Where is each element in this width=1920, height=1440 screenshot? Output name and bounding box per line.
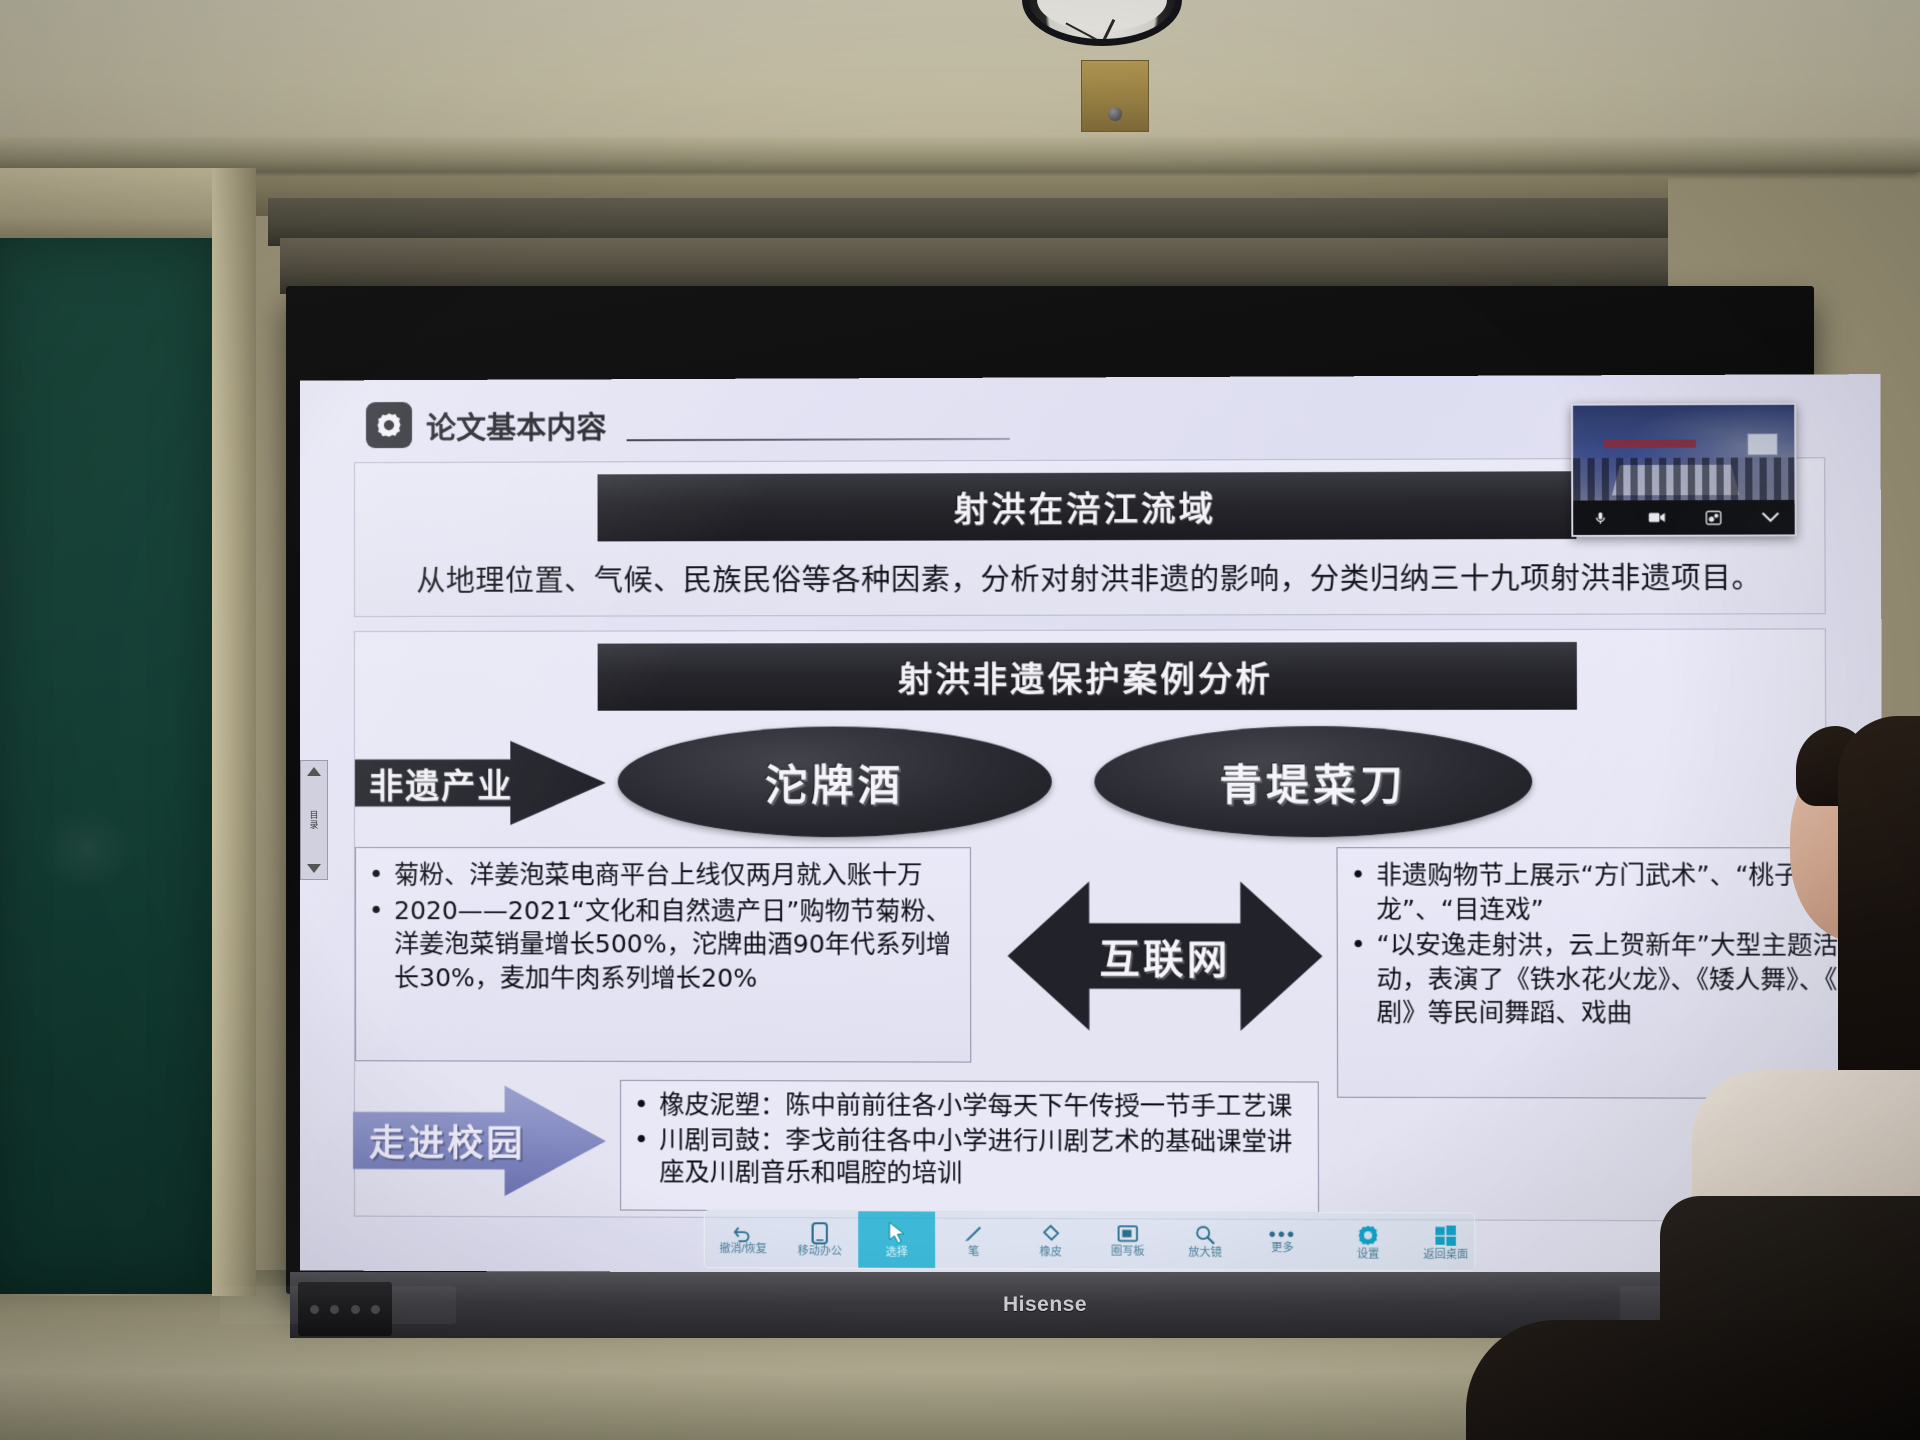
school-detail-box: • 橡皮泥塑：陈中前前往各小学每天下午传授一节手工艺课 • 川剧司鼓：李戈前往各… (620, 1080, 1319, 1213)
industry-arrow: 非遗产业 (355, 741, 606, 825)
left-bullet-1: 菊粉、洋姜泡菜电商平台上线仅两月就入账十万 (394, 858, 958, 892)
case-heading-row: 非遗产业 沱牌酒 青堤菜刀 (369, 722, 1811, 842)
person-shoulder (1466, 1320, 1920, 1440)
list-item: • 菊粉、洋姜泡菜电商平台上线仅两月就入账十万 (368, 858, 958, 892)
magnifier-icon[interactable]: 放大镜 (1166, 1212, 1243, 1269)
header-underline (627, 438, 1010, 441)
chevron-down-icon[interactable] (307, 864, 321, 873)
bullet-point: • (633, 1089, 649, 1122)
section-case-analysis: 射洪非遗保护案例分析 非遗产业 沱牌酒 青堤菜刀 • (354, 628, 1828, 1221)
hardware-button[interactable] (351, 1305, 360, 1314)
whiteboard-icon[interactable]: 圈写板 (1089, 1212, 1166, 1269)
mic-icon[interactable] (1593, 510, 1608, 525)
left-bullet-2: 2020——2021“文化和自然遗产日”购物节菊粉、洋姜泡菜销量增长500%，沱… (394, 894, 958, 996)
toolbar-tools-group: 撤消/恢复 移动办公 选择 笔 橡皮 (705, 1211, 1321, 1270)
case-detail-row: • 菊粉、洋姜泡菜电商平台上线仅两月就入账十万 • 2020——2021“文化和… (369, 847, 1812, 1091)
hardware-button[interactable] (310, 1305, 319, 1314)
toolbar-label: 移动办公 (798, 1246, 842, 1257)
panel-left-handle[interactable]: 目录 (300, 760, 328, 880)
chevron-up-icon[interactable] (307, 767, 321, 776)
gear-flower-icon (366, 402, 412, 448)
hardware-button[interactable] (330, 1305, 339, 1314)
pen-icon[interactable]: 笔 (935, 1212, 1012, 1269)
brand-logo: Hisense (1003, 1293, 1087, 1317)
chalkboard-side-rail (212, 168, 256, 1296)
meeting-attendees (1573, 457, 1797, 504)
video-call-overlay[interactable] (1571, 403, 1797, 537)
ellipse-qingdi-label: 青堤菜刀 (1219, 751, 1407, 813)
share-screen-icon[interactable] (1706, 510, 1722, 525)
slides-icon[interactable]: 移动办公 (781, 1211, 858, 1268)
hardware-button[interactable] (371, 1305, 380, 1314)
wall-rail (0, 140, 1920, 172)
internet-double-arrow: 互联网 (1007, 881, 1322, 1031)
industry-arrow-label: 非遗产业 (355, 758, 513, 807)
page-title: 论文基本内容 (426, 402, 607, 447)
toolbar-label: 返回桌面 (1423, 1249, 1468, 1260)
toolbar-label: 选择 (886, 1247, 908, 1258)
list-item: • 橡皮泥塑：陈中前前往各小学每天下午传授一节手工艺课 (633, 1089, 1305, 1123)
toolbar-label: 设置 (1357, 1249, 1379, 1260)
toolbar-system-group: 设置 返回桌面 (1329, 1213, 1484, 1270)
mount-screw (1108, 107, 1122, 121)
tv-wall-mount (1081, 60, 1149, 132)
bullet-point: • (368, 894, 384, 995)
undo-redo-icon[interactable]: 撤消/恢复 (705, 1211, 782, 1268)
toolbar-label: 笔 (968, 1246, 979, 1257)
select-cursor-icon[interactable]: 选择 (858, 1211, 935, 1268)
eraser-icon[interactable]: 橡皮 (1012, 1212, 1089, 1269)
toolbar-label: 放大镜 (1188, 1247, 1222, 1258)
list-item: • “以安逸走射洪，云上贺新年”大型主题活动，表演了《铁水花火龙》、《矮人舞》、… (1350, 928, 1873, 1030)
clock-face (1037, 0, 1167, 31)
more-icon[interactable]: ••• 更多 (1244, 1213, 1322, 1270)
ellipse-tuopai-label: 沱牌酒 (765, 751, 904, 812)
toolbar-label: 圈写板 (1111, 1246, 1145, 1257)
windows-icon[interactable]: 返回桌面 (1407, 1213, 1485, 1270)
school-arrow: 走进校园 (353, 1085, 606, 1196)
more-dots: ••• (1269, 1228, 1297, 1240)
meeting-room-screen (1747, 433, 1778, 455)
school-row: 走进校园 • 橡皮泥塑：陈中前前往各小学每天下午传授一节手工艺课 • 川剧司鼓：… (369, 1081, 1813, 1214)
annotation-toolbar[interactable]: 撤消/恢复 移动办公 选择 笔 橡皮 (704, 1210, 1476, 1271)
meeting-banner (1604, 440, 1696, 448)
bullet-point: • (633, 1124, 649, 1189)
ellipse-tuopai: 沱牌酒 (618, 726, 1052, 837)
gear-icon[interactable]: 设置 (1329, 1213, 1407, 1270)
section-body-1: 从地理位置、气候、民族民俗等各种因素，分析对射洪非遗的影响，分类归纳三十九项射洪… (369, 555, 1810, 600)
toolbar-label: 橡皮 (1039, 1247, 1061, 1258)
school-arrow-label: 走进校园 (353, 1114, 526, 1167)
ellipse-qingdi: 青堤菜刀 (1094, 726, 1532, 837)
bullet-point: • (1350, 858, 1366, 926)
list-item: • 2020——2021“文化和自然遗产日”购物节菊粉、洋姜泡菜销量增长500%… (368, 894, 958, 996)
left-detail-box: • 菊粉、洋姜泡菜电商平台上线仅两月就入账十万 • 2020——2021“文化和… (355, 847, 971, 1063)
panel-hardware-buttons[interactable] (298, 1282, 392, 1336)
chevron-down-icon[interactable] (1761, 511, 1778, 523)
school-bullet-2: 川剧司鼓：李戈前往各中小学进行川剧艺术的基础课堂讲座及川剧音乐和唱腔的培训 (659, 1124, 1305, 1191)
toolbar-label: 更多 (1271, 1243, 1293, 1254)
panel-left-handle-label: 目录 (308, 810, 321, 830)
bullet-point: • (368, 858, 384, 892)
list-item: • 川剧司鼓：李戈前往各中小学进行川剧艺术的基础课堂讲座及川剧音乐和唱腔的培训 (633, 1124, 1306, 1192)
internet-label: 互联网 (1099, 927, 1230, 986)
camera-icon[interactable] (1648, 510, 1666, 524)
chalkboard-surface (0, 236, 212, 1294)
section-banner-1: 射洪在涪江流域 (597, 471, 1577, 541)
wall-upper (0, 0, 1920, 152)
video-feed (1573, 405, 1797, 505)
section-banner-2: 射洪非遗保护案例分析 (597, 642, 1577, 711)
toolbar-label: 撤消/恢复 (719, 1244, 766, 1255)
school-bullet-1: 橡皮泥塑：陈中前前往各小学每天下午传授一节手工艺课 (659, 1089, 1305, 1123)
classroom-scene: 论文基本内容 射洪在涪江流域 从地理位置、气候、民族民俗等各种因素，分析对射洪非… (0, 0, 1920, 1440)
right-bullet-2: “以安逸走射洪，云上贺新年”大型主题活动，表演了《铁水花火龙》、《矮人舞》、《川… (1376, 928, 1872, 1030)
video-call-controls (1573, 500, 1796, 535)
bullet-point: • (1350, 928, 1367, 1030)
interactive-panel-screen[interactable]: 论文基本内容 射洪在涪江流域 从地理位置、气候、民族民俗等各种因素，分析对射洪非… (300, 374, 1884, 1277)
